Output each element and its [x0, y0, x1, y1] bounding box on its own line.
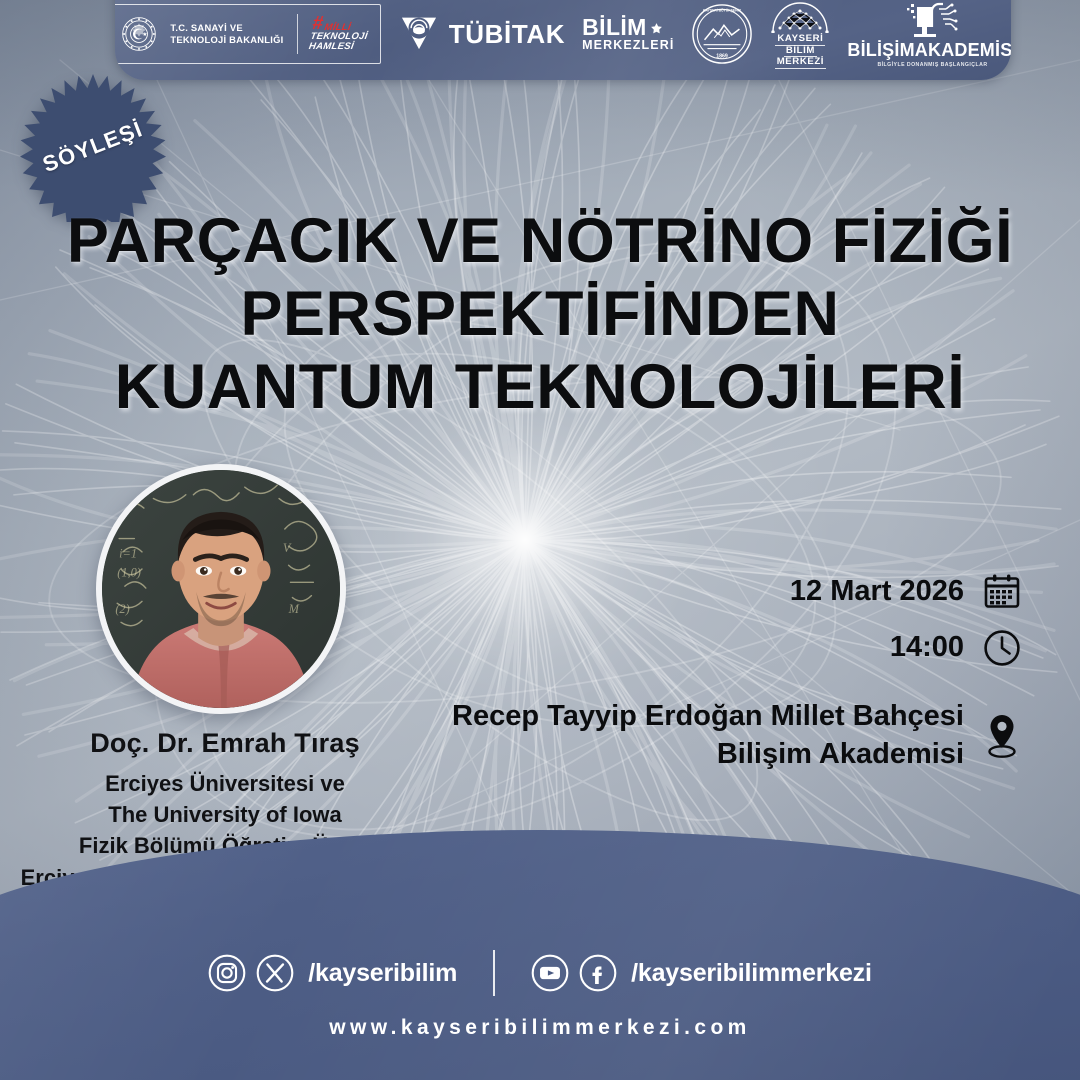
- event-time: 14:00: [890, 629, 964, 667]
- social-group-kayseribilimmerkezi[interactable]: /kayseribilimmerkezi: [531, 954, 872, 992]
- logo-bakanlik-text: T.C. SANAYİ VE TEKNOLOJİ BAKANLIĞI: [170, 22, 283, 46]
- event-venue-line-2: Bilişim Akademisi: [717, 738, 964, 770]
- turkish-republic-seal-icon: [121, 16, 157, 52]
- speaker-name: Doç. Dr. Emrah Tıraş: [0, 728, 450, 759]
- instagram-icon[interactable]: [208, 954, 246, 992]
- svg-text:M: M: [288, 602, 300, 616]
- social-group-kayseribilim[interactable]: /kayseribilim: [208, 954, 457, 992]
- event-venue-row: Recep Tayyip Erdoğan Millet Bahçesi Bili…: [462, 698, 1022, 773]
- tubitak-mark-icon: [398, 11, 440, 58]
- calendar-icon: [982, 572, 1022, 612]
- poster-title: PARÇACIK VE NÖTRİNO FİZİĞİ PERSPEKTİFİND…: [0, 205, 1080, 424]
- soylesi-badge: SÖYLEŞİ: [18, 72, 168, 222]
- logo-tc-sanayi-teknoloji-bakanligi: T.C. SANAYİ VE TEKNOLOJİ BAKANLIĞI # MİL…: [115, 4, 381, 64]
- event-date-row: 12 Mart 2026: [462, 572, 1022, 612]
- title-line-3: KUANTUM TEKNOLOJİLERİ: [30, 351, 1050, 424]
- bilisim-akademisi-wordmark: BİLİŞİMAKADEMİSİ: [847, 40, 1011, 61]
- svg-text:KAYSERİ BÜYÜKŞEHİR: KAYSERİ BÜYÜKŞEHİR: [703, 8, 742, 13]
- event-date: 12 Mart 2026: [790, 573, 964, 611]
- social-links-row: /kayseribilim /kayseribi: [208, 950, 871, 996]
- kbm-dome-icon: [770, 0, 830, 33]
- svg-text:i=1: i=1: [119, 547, 137, 561]
- title-line-1: PARÇACIK VE NÖTRİNO FİZİĞİ: [30, 205, 1050, 278]
- logo-milli-teknoloji-hamlesi: # MİLLİ TEKNOLOJİ HAMLESİ: [308, 16, 371, 51]
- logo-divider: [297, 14, 298, 54]
- event-venue-line-1: Recep Tayyip Erdoğan Millet Bahçesi: [452, 700, 964, 732]
- logo-kayseri-buyuksehir-belediyesi: 1869 KAYSERİ BÜYÜKŞEHİR: [691, 3, 753, 65]
- footer-divider: [493, 950, 495, 996]
- svg-text:(2): (2): [115, 602, 129, 616]
- event-time-row: 14:00: [462, 628, 1022, 668]
- speaker-affiliation-2: The University of Iowa: [0, 799, 450, 830]
- bilim-merkezleri-mark-icon: [650, 16, 663, 39]
- logo-kayseri-bilim-merkezi: KAYSERİ BİLİM MERKEZİ: [770, 0, 830, 69]
- youtube-icon[interactable]: [531, 954, 569, 992]
- svg-text:(1,0): (1,0): [117, 566, 141, 580]
- bilisim-akademisi-mark-icon: [905, 1, 961, 39]
- svg-text:1869: 1869: [717, 53, 729, 59]
- social-handle-kayseribilim[interactable]: /kayseribilim: [308, 959, 457, 988]
- website-url[interactable]: www.kayseribilimmerkezi.com: [329, 1016, 751, 1040]
- logo-bilisim-akademisi: BİLİŞİMAKADEMİSİ BİLGİYLE DONANMIŞ BAŞLA…: [847, 1, 1011, 68]
- speaker-affiliation-1: Erciyes Üniversitesi ve: [0, 768, 450, 799]
- logo-tubitak: TÜBİTAK: [398, 11, 565, 58]
- event-poster: T.C. SANAYİ VE TEKNOLOJİ BAKANLIĞI # MİL…: [0, 0, 1080, 1080]
- logo-bilim-merkezleri: BİLİM MERKEZLERİ: [582, 16, 674, 52]
- clock-icon: [982, 628, 1022, 668]
- location-pin-icon: [982, 712, 1022, 760]
- social-handle-kayseribilimmerkezi[interactable]: /kayseribilimmerkezi: [631, 959, 872, 988]
- footer-content: /kayseribilim /kayseribi: [90, 950, 990, 1040]
- x-twitter-icon[interactable]: [256, 954, 294, 992]
- facebook-icon[interactable]: [579, 954, 617, 992]
- event-venue: Recep Tayyip Erdoğan Millet Bahçesi Bili…: [452, 698, 964, 773]
- speaker-portrait: i=1 (1,0) (2) V M: [96, 464, 346, 714]
- sponsor-logo-band: T.C. SANAYİ VE TEKNOLOJİ BAKANLIĞI # MİL…: [115, 0, 1011, 80]
- title-line-2: PERSPEKTİFİNDEN: [30, 278, 1050, 351]
- event-details: 12 Mart 2026: [462, 572, 1022, 773]
